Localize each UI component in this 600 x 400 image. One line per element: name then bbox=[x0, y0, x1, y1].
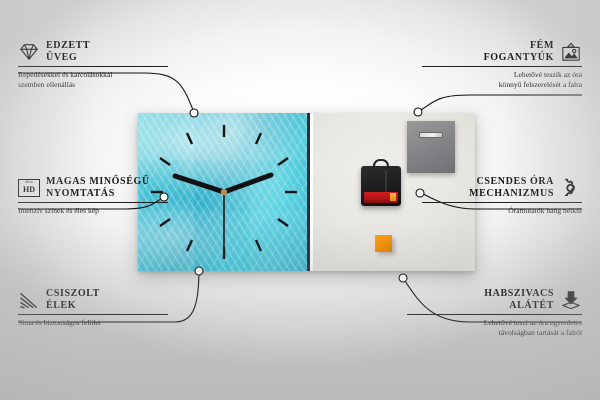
polished-edges-icon bbox=[18, 290, 40, 310]
callout-foam-pad: HABSZIVACS ALÁTÉT Lehetővé teszi az óra … bbox=[407, 288, 582, 337]
callout-description: Lehetővé teszik az óra könnyű felszerelé… bbox=[422, 70, 582, 89]
callout-divider bbox=[18, 66, 168, 67]
hanger-slot bbox=[419, 132, 443, 138]
ultra-hd-large-text: HD bbox=[23, 186, 35, 194]
clock-hands bbox=[175, 175, 271, 250]
callout-divider bbox=[18, 314, 168, 315]
callout-silent-mechanism: CSENDES ÓRA MECHANIZMUS Óramutatók hang … bbox=[422, 176, 582, 216]
callout-description: Óramutatók hang nélkül bbox=[422, 206, 582, 216]
mechanism-hanging-loop bbox=[373, 159, 389, 168]
infographic-canvas: EDZETT ÜVEG Repedésekkel és karcolásokka… bbox=[0, 0, 600, 400]
gear-icon bbox=[560, 178, 582, 198]
callout-polished-edges: CSISZOLT ÉLEK Sima és biztonságos felüle… bbox=[18, 288, 168, 328]
clock-mechanism bbox=[361, 166, 401, 206]
foam-pad-icon bbox=[560, 290, 582, 310]
callout-title: CSISZOLT ÉLEK bbox=[46, 288, 100, 311]
picture-hanging-icon bbox=[560, 42, 582, 62]
callout-description: Intenzív színek és éles kép bbox=[18, 206, 168, 216]
callout-title: FÉM FOGANTYÚK bbox=[484, 40, 554, 63]
callout-divider bbox=[422, 202, 582, 203]
callout-divider bbox=[422, 66, 582, 67]
callout-title: MAGAS MINŐSÉGŰ NYOMTATÁS bbox=[46, 176, 150, 199]
foam-pad bbox=[375, 235, 392, 252]
callout-description: Repedésekkel és karcolásokkal szemben el… bbox=[18, 70, 168, 89]
callout-divider bbox=[407, 314, 582, 315]
ultra-hd-icon: ultra HD bbox=[18, 179, 40, 197]
callout-divider bbox=[18, 202, 168, 203]
mechanism-seam bbox=[385, 170, 387, 194]
callout-title: CSENDES ÓRA MECHANIZMUS bbox=[469, 176, 554, 199]
callout-title: HABSZIVACS ALÁTÉT bbox=[484, 288, 554, 311]
callout-description: Lehetővé teszi az óra egyenletes távolsá… bbox=[407, 318, 582, 337]
callout-high-quality-print: ultra HD MAGAS MINŐSÉGŰ NYOMTATÁS Intenz… bbox=[18, 176, 168, 216]
callout-title: EDZETT ÜVEG bbox=[46, 40, 90, 63]
callout-tempered-glass: EDZETT ÜVEG Repedésekkel és karcolásokka… bbox=[18, 40, 168, 89]
battery bbox=[364, 192, 398, 203]
callout-metal-handles: FÉM FOGANTYÚK Lehetővé teszik az óra kön… bbox=[422, 40, 582, 89]
metal-hanger-plate bbox=[407, 121, 455, 173]
callout-description: Sima és biztonságos felület bbox=[18, 318, 168, 328]
diamond-icon bbox=[18, 42, 40, 62]
